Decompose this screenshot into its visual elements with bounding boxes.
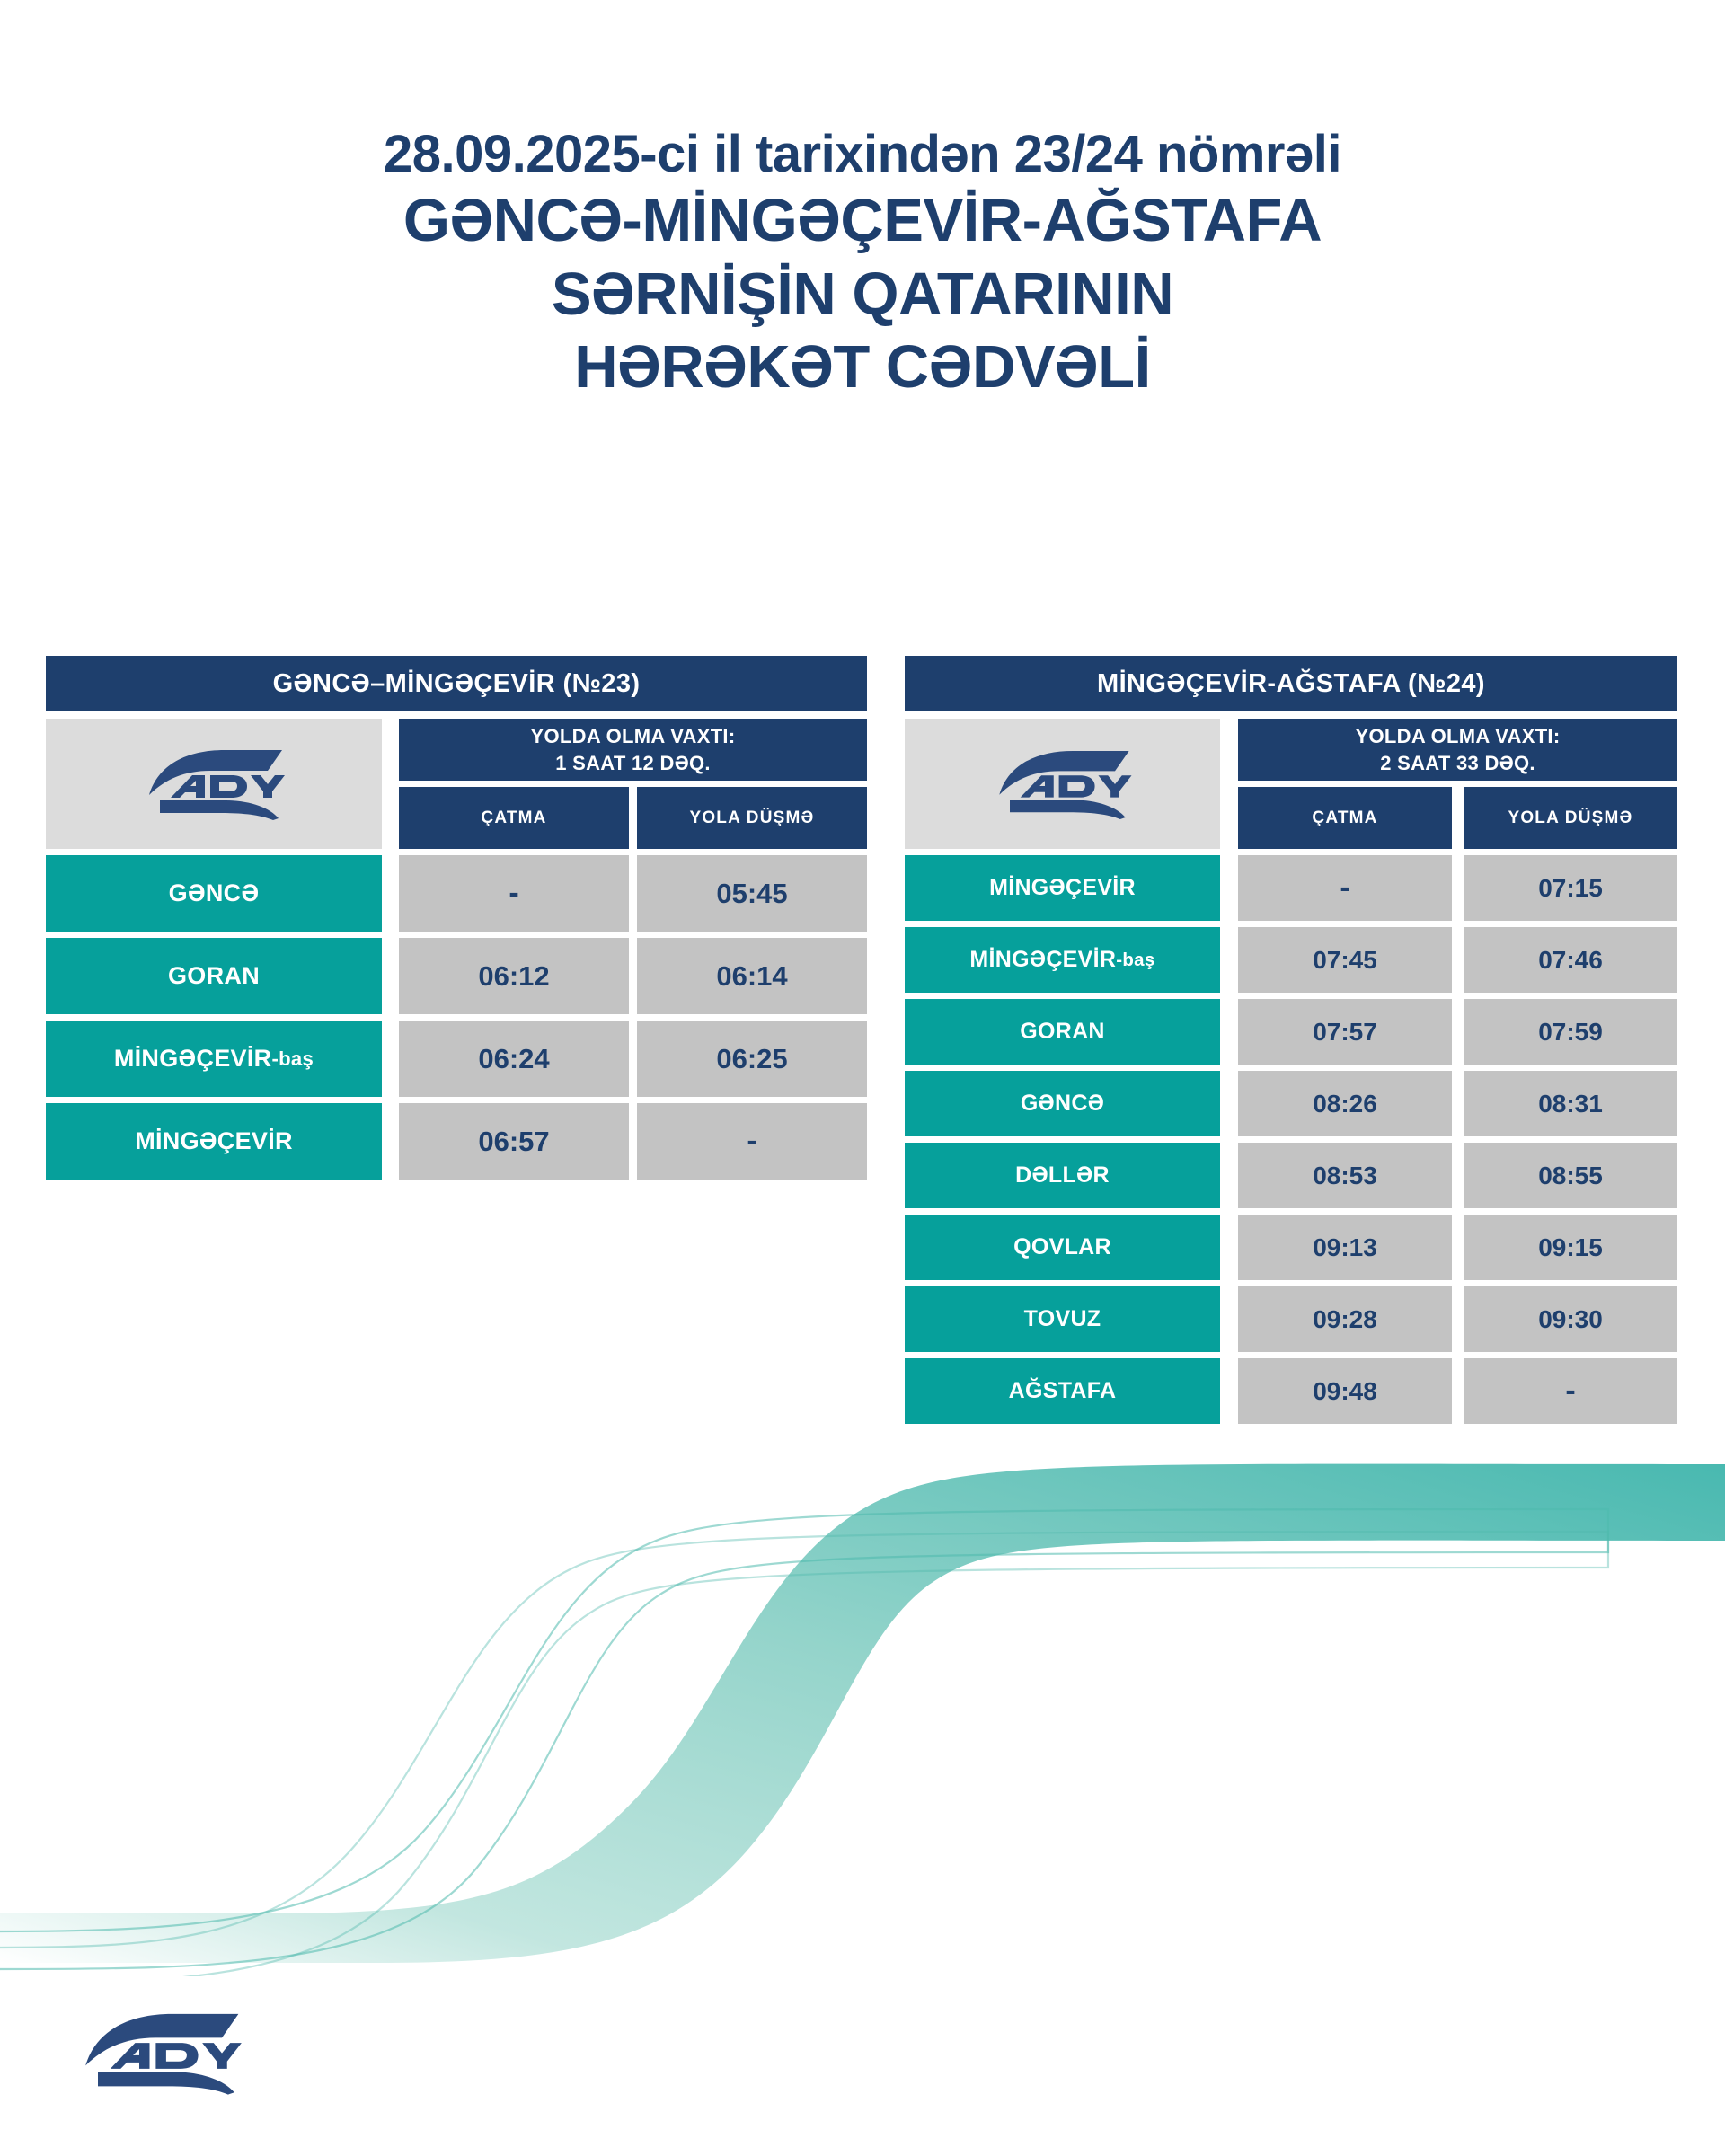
title-line-date: 28.09.2025-ci il tarixindən 23/24 nömrəl… <box>0 126 1725 184</box>
table-row: MİNGƏÇEVİR-baş06:2406:25 <box>46 1021 867 1097</box>
table-row: MİNGƏÇEVİR-baş07:4507:46 <box>905 927 1677 993</box>
table-body: GƏNCƏ-05:45GORAN06:1206:14MİNGƏÇEVİR-baş… <box>46 855 867 1180</box>
ady-logo-icon <box>124 741 304 826</box>
table-title: MİNGƏÇEVİR-AĞSTAFA (№24) <box>905 656 1677 711</box>
duration-value: 2 SAAT 33 DƏQ. <box>1380 750 1535 777</box>
arrive-time-cell: 09:13 <box>1238 1215 1452 1280</box>
column-headers: ÇATMA YOLA DÜŞMƏ <box>399 787 867 849</box>
station-name-cell: AĞSTAFA <box>905 1358 1220 1424</box>
table-row: TOVUZ09:2809:30 <box>905 1286 1677 1352</box>
depart-time-cell: 08:55 <box>1464 1143 1677 1208</box>
arrive-time-cell: 06:12 <box>399 938 629 1014</box>
station-name-cell: MİNGƏÇEVİR <box>46 1103 382 1180</box>
table-title: GƏNCƏ–MİNGƏÇEVİR (№23) <box>46 656 867 711</box>
station-name-cell: GORAN <box>46 938 382 1014</box>
table-header-right: YOLDA OLMA VAXTI: 2 SAAT 33 DƏQ. ÇATMA Y… <box>1238 719 1677 849</box>
arrive-time-cell: - <box>399 855 629 932</box>
depart-time-cell: 07:59 <box>1464 999 1677 1065</box>
infographic-page: 28.09.2025-ci il tarixindən 23/24 nömrəl… <box>0 0 1725 2156</box>
station-name-cell: QOVLAR <box>905 1215 1220 1280</box>
station-name-cell: TOVUZ <box>905 1286 1220 1352</box>
arrive-time-cell: 07:45 <box>1238 927 1452 993</box>
depart-time-cell: - <box>1464 1358 1677 1424</box>
ady-logo-icon <box>57 1999 263 2107</box>
depart-time-cell: 06:25 <box>637 1021 867 1097</box>
duration-value: 1 SAAT 12 DƏQ. <box>555 750 711 777</box>
depart-time-cell: - <box>637 1103 867 1180</box>
arrive-time-cell: 08:53 <box>1238 1143 1452 1208</box>
table-row: GORAN07:5707:59 <box>905 999 1677 1065</box>
station-name-cell: DƏLLƏR <box>905 1143 1220 1208</box>
depart-time-cell: 07:46 <box>1464 927 1677 993</box>
depart-time-cell: 06:14 <box>637 938 867 1014</box>
schedule-table-mingecevir-agstafa: MİNGƏÇEVİR-AĞSTAFA (№24) YOLDA OLMA VAXT… <box>905 656 1677 1424</box>
station-name-cell: GƏNCƏ <box>46 855 382 932</box>
duration-label: YOLDA OLMA VAXTI: <box>531 723 736 750</box>
depart-time-cell: 05:45 <box>637 855 867 932</box>
duration-cell: YOLDA OLMA VAXTI: 2 SAAT 33 DƏQ. <box>1238 719 1677 781</box>
station-name-cell: MİNGƏÇEVİR <box>905 855 1220 921</box>
duration-label: YOLDA OLMA VAXTI: <box>1356 723 1561 750</box>
ady-logo-cell <box>905 719 1220 849</box>
column-header-depart: YOLA DÜŞMƏ <box>637 787 867 849</box>
arrive-time-cell: 06:24 <box>399 1021 629 1097</box>
title-line-schedule: HƏRƏKƏT CƏDVƏLİ <box>0 331 1725 404</box>
arrive-time-cell: 07:57 <box>1238 999 1452 1065</box>
station-name-cell: MİNGƏÇEVİR-baş <box>46 1021 382 1097</box>
wave-ribbon <box>0 1464 1725 1963</box>
depart-time-cell: 07:15 <box>1464 855 1677 921</box>
column-headers: ÇATMA YOLA DÜŞMƏ <box>1238 787 1677 849</box>
table-row: MİNGƏÇEVİR06:57- <box>46 1103 867 1180</box>
arrive-time-cell: 08:26 <box>1238 1071 1452 1136</box>
ady-logo-cell <box>46 719 382 849</box>
column-header-arrive: ÇATMA <box>1238 787 1452 849</box>
depart-time-cell: 09:15 <box>1464 1215 1677 1280</box>
table-header-band: YOLDA OLMA VAXTI: 2 SAAT 33 DƏQ. ÇATMA Y… <box>905 719 1677 849</box>
page-title: 28.09.2025-ci il tarixindən 23/24 nömrəl… <box>0 126 1725 404</box>
table-row: AĞSTAFA09:48- <box>905 1358 1677 1424</box>
station-name-cell: GƏNCƏ <box>905 1071 1220 1136</box>
table-header-right: YOLDA OLMA VAXTI: 1 SAAT 12 DƏQ. ÇATMA Y… <box>399 719 867 849</box>
column-header-arrive: ÇATMA <box>399 787 629 849</box>
ady-logo-icon <box>975 742 1150 826</box>
footer-ady-logo <box>57 1999 263 2107</box>
wave-decoration <box>0 1446 1725 1976</box>
arrive-time-cell: 09:28 <box>1238 1286 1452 1352</box>
column-header-depart: YOLA DÜŞMƏ <box>1464 787 1677 849</box>
table-row: MİNGƏÇEVİR-07:15 <box>905 855 1677 921</box>
wave-outline-2 <box>0 1532 1608 1976</box>
table-body: MİNGƏÇEVİR-07:15MİNGƏÇEVİR-baş07:4507:46… <box>905 855 1677 1424</box>
table-row: GƏNCƏ-05:45 <box>46 855 867 932</box>
title-line-route: GƏNCƏ-MİNGƏÇEVİR-AĞSTAFA <box>0 184 1725 258</box>
table-row: QOVLAR09:1309:15 <box>905 1215 1677 1280</box>
station-name-cell: GORAN <box>905 999 1220 1065</box>
wave-outline-1 <box>0 1509 1608 1969</box>
arrive-time-cell: 09:48 <box>1238 1358 1452 1424</box>
station-name-cell: MİNGƏÇEVİR-baş <box>905 927 1220 993</box>
duration-cell: YOLDA OLMA VAXTI: 1 SAAT 12 DƏQ. <box>399 719 867 781</box>
table-row: GƏNCƏ08:2608:31 <box>905 1071 1677 1136</box>
arrive-time-cell: 06:57 <box>399 1103 629 1180</box>
title-line-train: SƏRNİŞİN QATARININ <box>0 258 1725 331</box>
arrive-time-cell: - <box>1238 855 1452 921</box>
table-row: GORAN06:1206:14 <box>46 938 867 1014</box>
schedule-table-gence-mingecevir: GƏNCƏ–MİNGƏÇEVİR (№23) YOLDA OLMA VAXTI:… <box>46 656 867 1180</box>
depart-time-cell: 08:31 <box>1464 1071 1677 1136</box>
table-header-band: YOLDA OLMA VAXTI: 1 SAAT 12 DƏQ. ÇATMA Y… <box>46 719 867 849</box>
depart-time-cell: 09:30 <box>1464 1286 1677 1352</box>
table-row: DƏLLƏR08:5308:55 <box>905 1143 1677 1208</box>
